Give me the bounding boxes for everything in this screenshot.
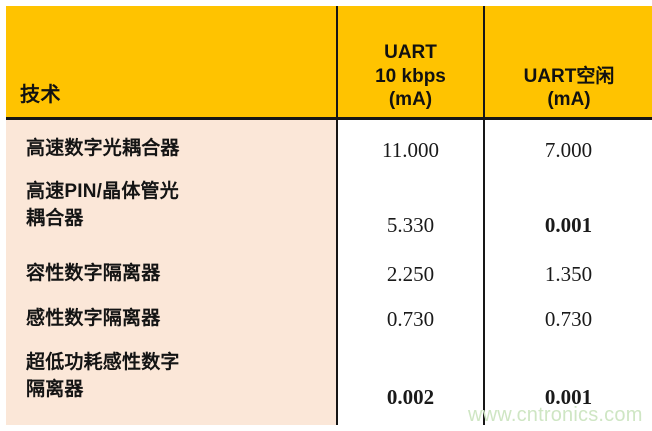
cell-uart-idle: 0.730 xyxy=(485,307,652,332)
cell-technology-line2: 耦合器 xyxy=(26,206,326,233)
column-header-technology: 技术 xyxy=(20,83,320,107)
column-header-uart-10kbps-line1: UART xyxy=(337,41,484,64)
cell-technology-line1: 感性数字隔离器 xyxy=(26,306,326,333)
cell-technology-line1: 高速数字光耦合器 xyxy=(26,136,326,163)
cell-uart-10kbps: 0.730 xyxy=(338,307,483,332)
cell-uart-10kbps: 11.000 xyxy=(338,138,483,163)
column-header-uart-10kbps-line2: 10 kbps xyxy=(337,65,484,88)
column-header-uart-idle: UART空闲 (mA) xyxy=(486,65,652,111)
watermark: www.cntronics.com xyxy=(468,404,643,427)
column-header-uart-idle-line1: UART空闲 xyxy=(486,65,652,88)
cell-uart-10kbps: 0.002 xyxy=(338,385,483,410)
column-header-technology-label: 技术 xyxy=(20,83,320,107)
cell-technology: 高速PIN/晶体管光 耦合器 xyxy=(26,179,326,233)
cell-uart-idle: 1.350 xyxy=(485,262,652,287)
cell-technology-line1: 超低功耗感性数字 xyxy=(26,350,326,377)
column-divider-2 xyxy=(483,6,485,425)
cell-technology-line1: 容性数字隔离器 xyxy=(26,261,326,288)
column-divider-1 xyxy=(336,6,338,425)
column-header-uart-idle-line2: (mA) xyxy=(486,88,652,111)
cell-technology: 感性数字隔离器 xyxy=(26,306,326,333)
cell-uart-10kbps: 5.330 xyxy=(338,213,483,238)
cell-technology: 超低功耗感性数字 隔离器 xyxy=(26,350,326,404)
table-header-row: 技术 UART 10 kbps (mA) UART空闲 (mA) xyxy=(6,6,652,120)
table-body: 高速数字光耦合器 11.000 7.000 高速PIN/晶体管光 耦合器 5.3… xyxy=(6,120,652,425)
screenshot-root: 技术 UART 10 kbps (mA) UART空闲 (mA) 高速数字光耦合… xyxy=(0,0,652,431)
cell-technology: 容性数字隔离器 xyxy=(26,261,326,288)
cell-uart-10kbps: 2.250 xyxy=(338,262,483,287)
column-header-uart-10kbps: UART 10 kbps (mA) xyxy=(337,41,484,111)
column-header-uart-10kbps-line3: (mA) xyxy=(337,88,484,111)
cell-technology: 高速数字光耦合器 xyxy=(26,136,326,163)
cell-technology-line2: 隔离器 xyxy=(26,377,326,404)
comparison-table: 技术 UART 10 kbps (mA) UART空闲 (mA) 高速数字光耦合… xyxy=(6,6,652,425)
cell-technology-line1: 高速PIN/晶体管光 xyxy=(26,179,326,206)
cell-uart-idle: 0.001 xyxy=(485,213,652,238)
cell-uart-idle: 7.000 xyxy=(485,138,652,163)
